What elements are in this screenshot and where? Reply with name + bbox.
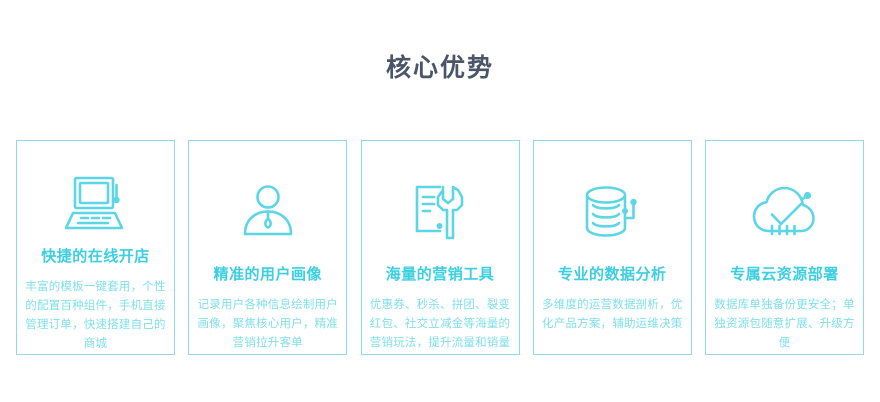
advantage-card-title: 海量的营销工具 (386, 265, 495, 285)
database-icon (583, 175, 641, 251)
advantage-card-online-store[interactable]: 快捷的在线开店 丰富的模板一键套用，个性的配置百种组件，手机直接管理订单，快速搭… (16, 140, 175, 355)
advantage-card-cloud-deploy[interactable]: 专属云资源部署 数据库单独备份更安全；单独资源包随意扩展、升级方便 (705, 140, 864, 355)
advantage-card-list: 快捷的在线开店 丰富的模板一键套用，个性的配置百种组件，手机直接管理订单，快速搭… (16, 140, 864, 355)
page-title: 核心优势 (0, 52, 880, 84)
advantage-card-title: 专属云资源部署 (730, 265, 839, 285)
advantage-card-description: 数据库单独备份更安全；单独资源包随意扩展、升级方便 (714, 296, 856, 353)
advantage-card-data-analysis[interactable]: 专业的数据分析 多维度的运营数据剖析，优化产品方案，辅助运维决策 (533, 140, 692, 355)
cloud-check-icon (752, 175, 818, 251)
advantage-card-description: 多维度的运营数据剖析，优化产品方案，辅助运维决策 (541, 296, 683, 334)
user-portrait-icon (239, 175, 297, 251)
advantage-card-title: 专业的数据分析 (558, 265, 667, 285)
document-wrench-icon (412, 175, 468, 251)
advantage-card-title: 精准的用户画像 (213, 265, 322, 285)
laptop-icon (65, 175, 127, 233)
advantage-card-description: 优惠券、秒杀、拼团、裂变红包、社交立减金等海量的营销玩法，提升流量和销量 (369, 296, 511, 353)
advantage-card-description: 丰富的模板一键套用，个性的配置百种组件，手机直接管理订单，快速搭建自己的商城 (25, 278, 167, 354)
advantage-card-title: 快捷的在线开店 (41, 247, 150, 267)
advantage-card-description: 记录用户各种信息绘制用户画像，聚焦核心用户，精准营销拉升客单 (197, 296, 339, 353)
advantage-card-user-portrait[interactable]: 精准的用户画像 记录用户各种信息绘制用户画像，聚焦核心用户，精准营销拉升客单 (188, 140, 347, 355)
core-advantages-section: 核心优势 快捷的在线开店 丰富的模板一键套用，个性的配置百种组件，手机直接管理订… (0, 0, 880, 402)
advantage-card-marketing-tools[interactable]: 海量的营销工具 优惠券、秒杀、拼团、裂变红包、社交立减金等海量的营销玩法，提升流… (361, 140, 520, 355)
